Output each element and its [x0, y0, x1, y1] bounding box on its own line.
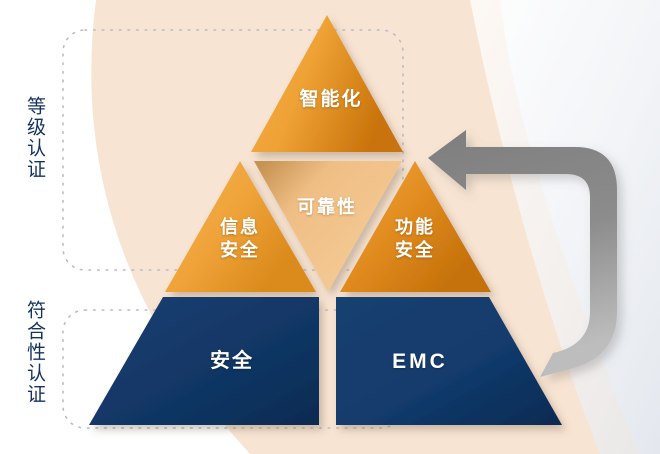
block-bottom-left-trapezoid[interactable] [89, 297, 319, 425]
side-label-grade: 等级认证 [24, 96, 44, 180]
pyramid-shapes [0, 0, 660, 454]
block-bottom-right-trapezoid[interactable] [336, 297, 562, 425]
side-label-conformity: 符合性认证 [24, 300, 44, 405]
diagram-canvas: 等级认证 符合性认证 智能化 可靠性 信息 安全 功能 安全 安全 EMC [0, 0, 660, 454]
block-top-triangle[interactable] [251, 15, 403, 152]
